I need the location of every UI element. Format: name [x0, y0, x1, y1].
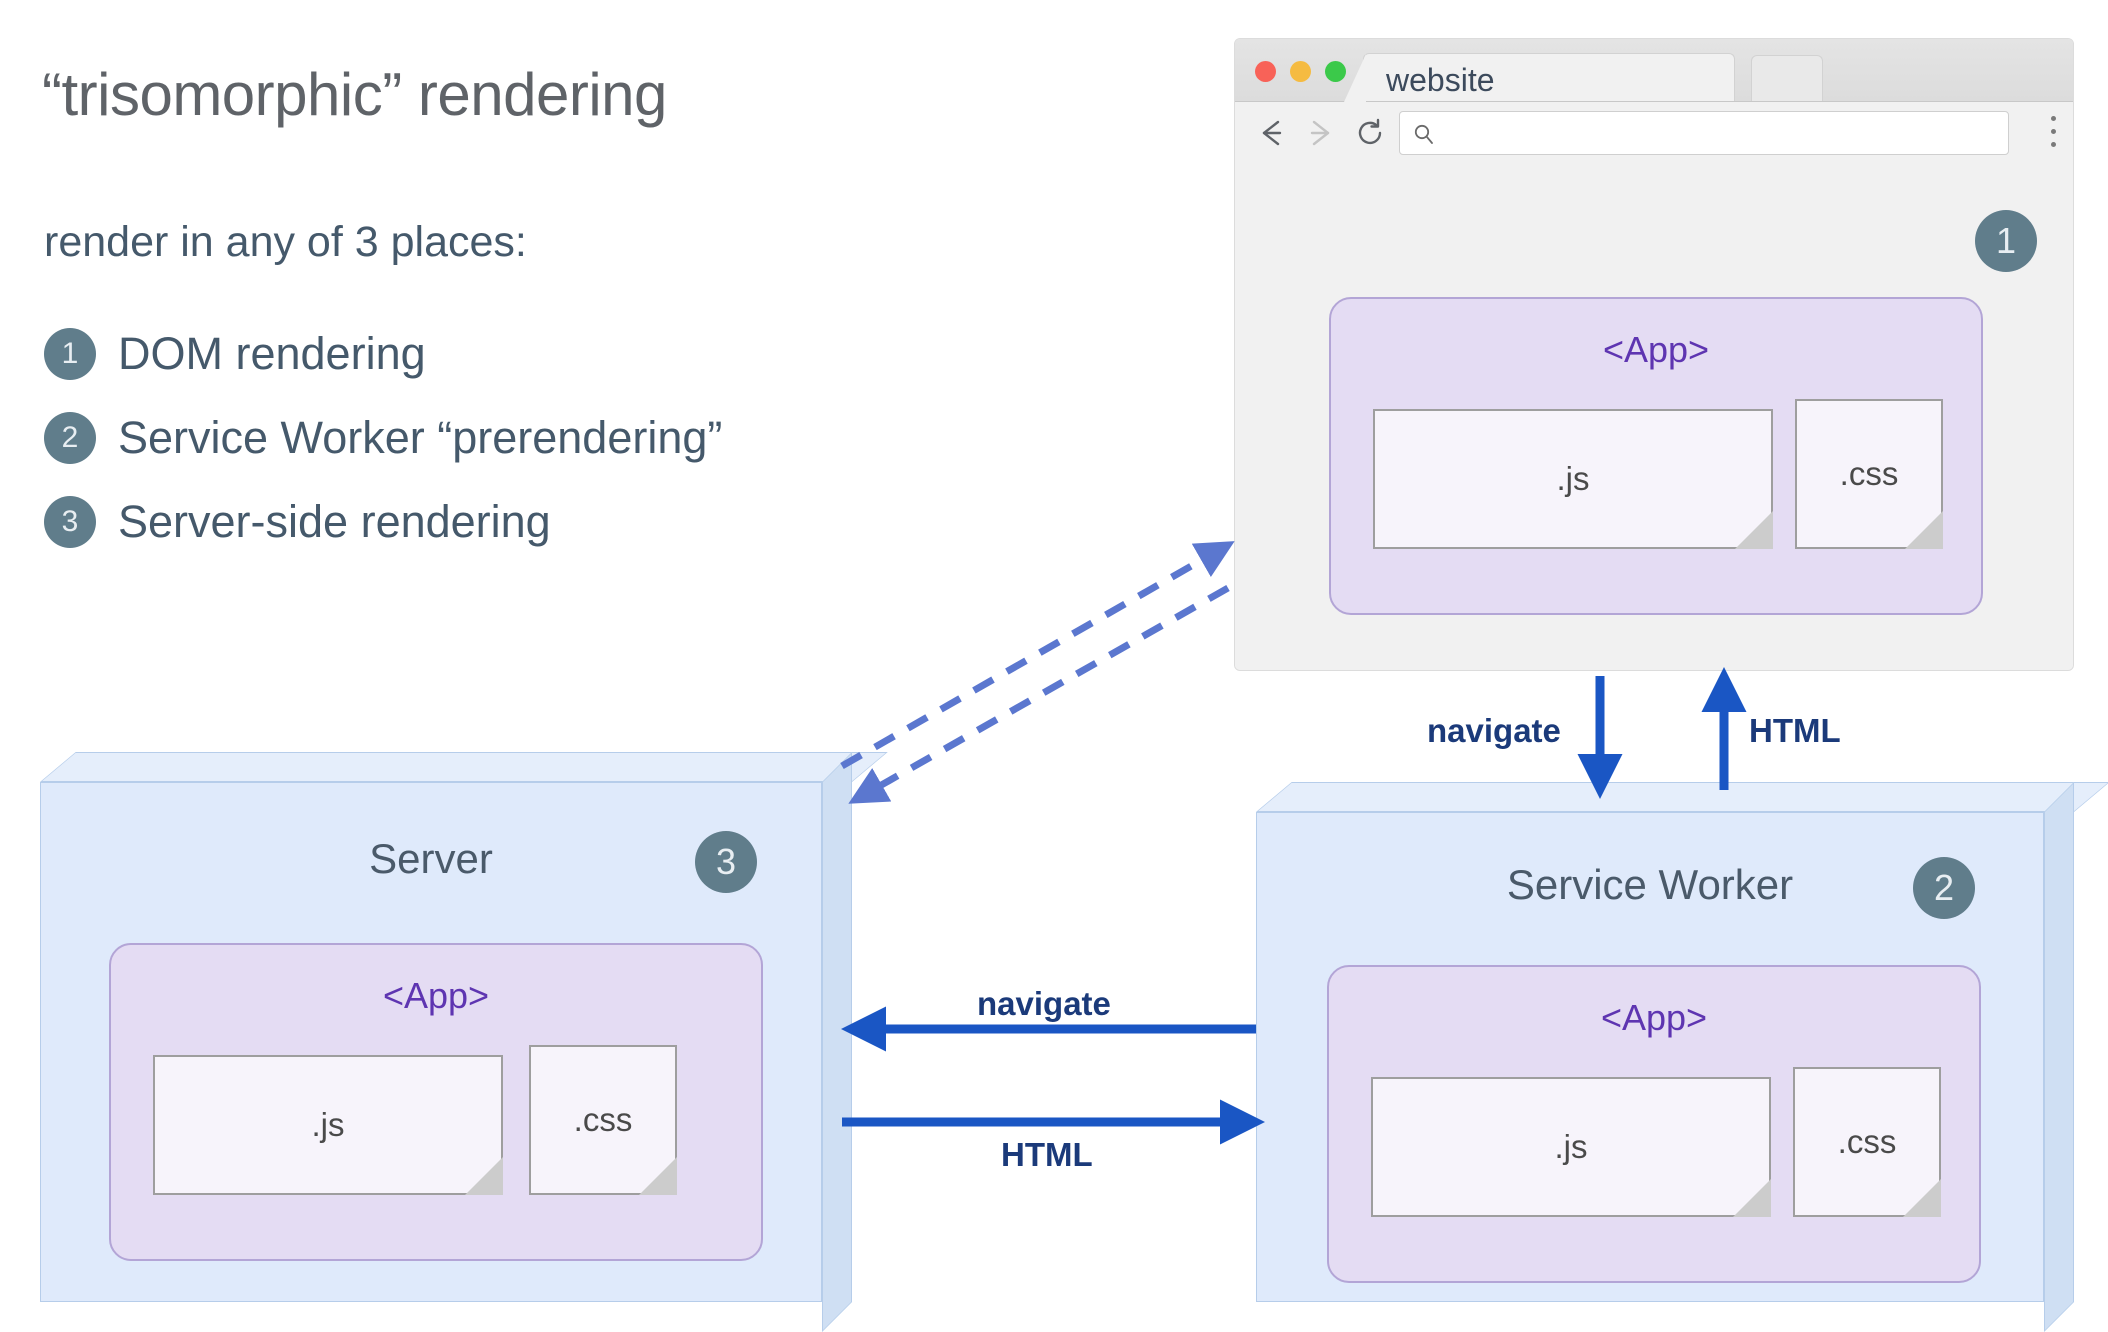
- page-fold-icon: [1735, 511, 1773, 549]
- css-file: .css: [1793, 1067, 1941, 1217]
- subtitle: render in any of 3 places:: [44, 218, 527, 267]
- js-file: .js: [1373, 409, 1773, 549]
- list-item-label: Service Worker “prerendering”: [118, 412, 722, 464]
- css-file-label: .css: [1840, 455, 1899, 493]
- list-item: 1 DOM rendering: [44, 312, 1004, 396]
- badge-3: 3: [695, 831, 757, 893]
- browser-tabstrip: website: [1235, 39, 2073, 102]
- page-fold-icon: [465, 1157, 503, 1195]
- browser-menu-icon[interactable]: [2049, 116, 2057, 152]
- arrow-label-navigate-horizontal: navigate: [977, 985, 1111, 1023]
- list-item-number-badge: 2: [44, 412, 96, 464]
- arrow-label-navigate-vertical: navigate: [1427, 712, 1561, 750]
- css-file-label: .css: [574, 1101, 633, 1139]
- js-file-label: .js: [1557, 460, 1590, 498]
- browser-tab-title: website: [1386, 62, 1495, 99]
- list-item-number-badge: 1: [44, 328, 96, 380]
- list-item: 3 Server-side rendering: [44, 480, 1004, 564]
- server-box-front-face: Server 3 <App> .js .css: [40, 782, 822, 1302]
- page-title: “trisomorphic” rendering: [42, 60, 667, 129]
- browser-window: website: [1234, 38, 2074, 671]
- app-label: <App>: [111, 975, 761, 1017]
- server-box-top-face: [40, 752, 888, 782]
- window-close-icon[interactable]: [1255, 61, 1276, 82]
- arrow-label-html-vertical: HTML: [1749, 712, 1841, 750]
- places-list: 1 DOM rendering 2 Service Worker “preren…: [44, 312, 1004, 564]
- arrow-dashed-server-to-browser: [842, 545, 1228, 766]
- badge-1: 1: [1975, 210, 2037, 272]
- js-file-label: .js: [312, 1106, 345, 1144]
- page-fold-icon: [1905, 511, 1943, 549]
- browser-viewport: 1 <App> .js .css: [1235, 164, 2073, 670]
- new-tab-button[interactable]: [1751, 55, 1823, 101]
- service-worker-app-container: <App> .js .css: [1327, 965, 1981, 1283]
- service-worker-box: Service Worker 2 <App> .js .css: [1256, 782, 2074, 1302]
- page-fold-icon: [1733, 1179, 1771, 1217]
- js-file: .js: [153, 1055, 503, 1195]
- page-fold-icon: [1903, 1179, 1941, 1217]
- page-fold-icon: [639, 1157, 677, 1195]
- back-arrow-icon[interactable]: [1253, 114, 1291, 152]
- js-file: .js: [1371, 1077, 1771, 1217]
- list-item-label: DOM rendering: [118, 328, 426, 380]
- server-box: Server 3 <App> .js .css: [40, 752, 852, 1302]
- css-file-label: .css: [1838, 1123, 1897, 1161]
- css-file: .css: [1795, 399, 1943, 549]
- js-file-label: .js: [1555, 1128, 1588, 1166]
- css-file: .css: [529, 1045, 677, 1195]
- browser-app-container: <App> .js .css: [1329, 297, 1983, 615]
- server-box-side-face: [822, 752, 852, 1332]
- app-label: <App>: [1331, 329, 1981, 371]
- server-app-container: <App> .js .css: [109, 943, 763, 1261]
- service-worker-box-side-face: [2044, 782, 2074, 1332]
- list-item-number-badge: 3: [44, 496, 96, 548]
- list-item: 2 Service Worker “prerendering”: [44, 396, 1004, 480]
- badge-2: 2: [1913, 857, 1975, 919]
- app-label: <App>: [1329, 997, 1979, 1039]
- arrow-dashed-browser-to-server: [855, 588, 1228, 800]
- window-maximize-icon[interactable]: [1325, 61, 1346, 82]
- list-item-label: Server-side rendering: [118, 496, 551, 548]
- address-bar[interactable]: [1399, 111, 2009, 155]
- service-worker-box-front-face: Service Worker 2 <App> .js .css: [1256, 812, 2044, 1302]
- reload-icon[interactable]: [1351, 114, 1389, 152]
- service-worker-box-top-face: [1256, 782, 2108, 812]
- address-bar-input[interactable]: [1446, 112, 2002, 156]
- browser-tab[interactable]: website: [1363, 53, 1735, 101]
- search-icon: [1412, 122, 1436, 146]
- browser-toolbar: [1235, 102, 2073, 165]
- window-minimize-icon[interactable]: [1290, 61, 1311, 82]
- arrow-label-html-horizontal: HTML: [1001, 1136, 1093, 1174]
- forward-arrow-icon[interactable]: [1301, 114, 1339, 152]
